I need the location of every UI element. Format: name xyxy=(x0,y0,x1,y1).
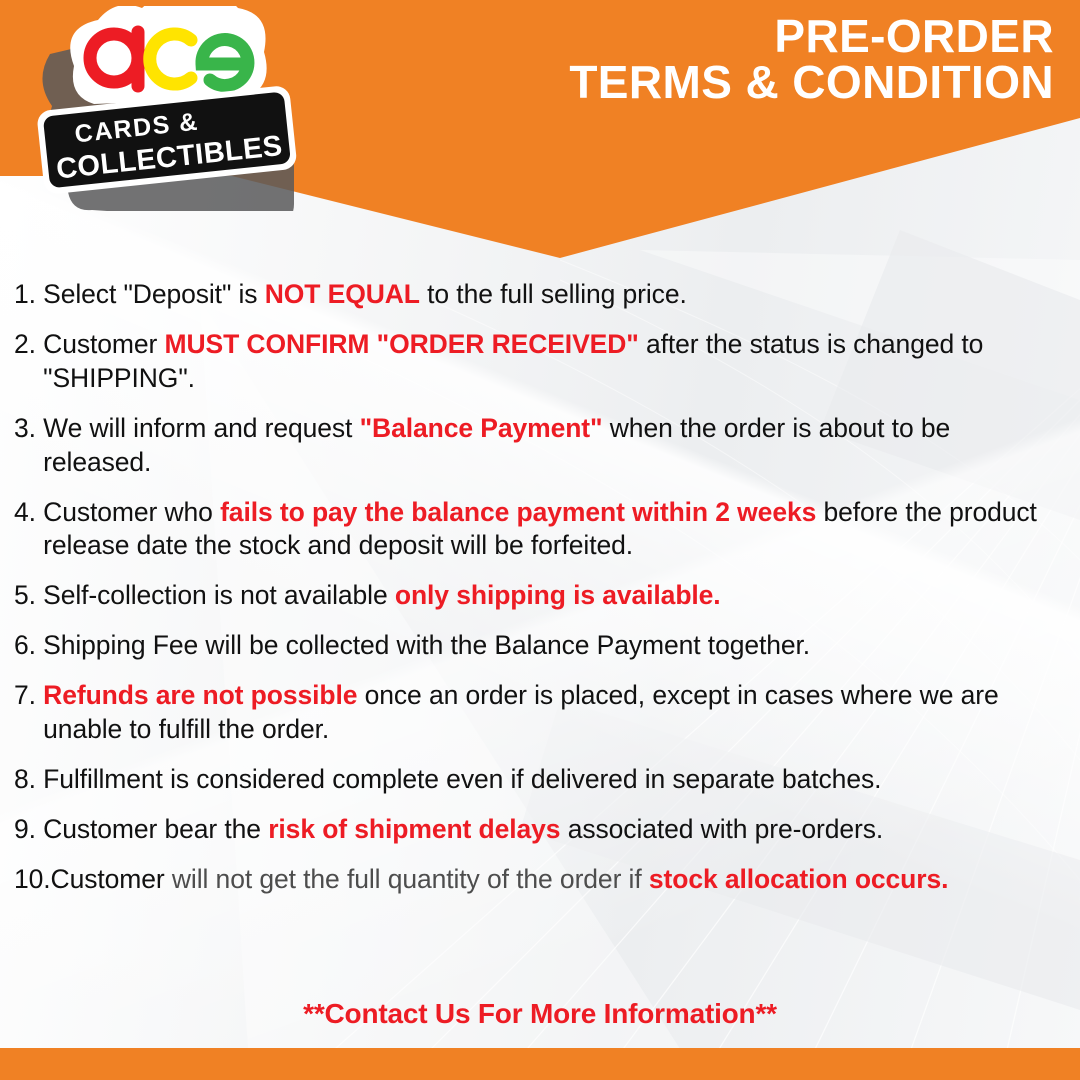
term-text: Customer will not get the full quantity … xyxy=(51,863,1062,897)
term-plain: Select "Deposit" is xyxy=(43,279,265,309)
term-plain: Shipping Fee will be collected with the … xyxy=(43,630,810,660)
term-item: 1. Select "Deposit" is NOT EQUAL to the … xyxy=(14,278,1062,312)
term-item: 5. Self-collection is not available only… xyxy=(14,579,1062,613)
title-line-one: PRE-ORDER xyxy=(569,14,1054,60)
term-text: Select "Deposit" is NOT EQUAL to the ful… xyxy=(43,278,1062,312)
footer-bar xyxy=(0,1048,1080,1080)
term-item: 3. We will inform and request "Balance P… xyxy=(14,412,1062,480)
term-highlight: fails to pay the balance payment within … xyxy=(220,497,816,527)
term-highlight: risk of shipment delays xyxy=(268,814,560,844)
term-highlight: Refunds are not possible xyxy=(43,680,357,710)
term-highlight: stock allocation occurs. xyxy=(649,864,949,894)
terms-list: 1. Select "Deposit" is NOT EQUAL to the … xyxy=(14,278,1062,913)
term-plain: associated with pre-orders. xyxy=(560,814,883,844)
term-text: Customer MUST CONFIRM "ORDER RECEIVED" a… xyxy=(43,328,1062,396)
term-text: We will inform and request "Balance Paym… xyxy=(43,412,1062,480)
term-text: Customer who fails to pay the balance pa… xyxy=(43,496,1062,564)
term-text: Customer bear the risk of shipment delay… xyxy=(43,813,1062,847)
term-plain: Fulfillment is considered complete even … xyxy=(43,764,881,794)
term-item: 8. Fulfillment is considered complete ev… xyxy=(14,763,1062,797)
term-item: 6. Shipping Fee will be collected with t… xyxy=(14,629,1062,663)
term-plain: Customer bear the xyxy=(43,814,268,844)
term-highlight: MUST CONFIRM "ORDER RECEIVED" xyxy=(165,329,639,359)
term-number: 9. xyxy=(14,813,43,847)
term-number: 2. xyxy=(14,328,43,362)
term-highlight: "Balance Payment" xyxy=(360,413,603,443)
term-number: 4. xyxy=(14,496,43,530)
term-number: 1. xyxy=(14,278,43,312)
term-number: 7. xyxy=(14,679,43,713)
term-item: 2. Customer MUST CONFIRM "ORDER RECEIVED… xyxy=(14,328,1062,396)
term-number: 6. xyxy=(14,629,43,663)
term-plain: We will inform and request xyxy=(43,413,359,443)
term-text: Self-collection is not available only sh… xyxy=(43,579,1062,613)
term-number: 3. xyxy=(14,412,43,446)
contact-note: **Contact Us For More Information** xyxy=(0,998,1080,1030)
brand-logo[interactable]: CARDS & COLLECTIBLES xyxy=(16,6,316,211)
term-number: 5. xyxy=(14,579,43,613)
term-item: 10. Customer will not get the full quant… xyxy=(14,863,1062,897)
term-plain: Customer xyxy=(43,329,164,359)
term-plain: Customer xyxy=(51,864,165,894)
term-item: 7. Refunds are not possible once an orde… xyxy=(14,679,1062,747)
term-highlight: only shipping is available. xyxy=(395,580,721,610)
page-title: PRE-ORDER TERMS & CONDITION xyxy=(569,14,1054,105)
term-text: Refunds are not possible once an order i… xyxy=(43,679,1062,747)
term-dim: will not get the full quantity of the or… xyxy=(165,864,649,894)
term-text: Fulfillment is considered complete even … xyxy=(43,763,1062,797)
term-plain: to the full selling price. xyxy=(420,279,687,309)
term-number: 8. xyxy=(14,763,43,797)
term-item: 9. Customer bear the risk of shipment de… xyxy=(14,813,1062,847)
term-highlight: NOT EQUAL xyxy=(265,279,420,309)
term-number: 10. xyxy=(14,863,51,897)
title-line-two: TERMS & CONDITION xyxy=(569,60,1054,106)
term-plain: Self-collection is not available xyxy=(43,580,395,610)
term-plain: Customer who xyxy=(43,497,220,527)
term-text: Shipping Fee will be collected with the … xyxy=(43,629,1062,663)
preorder-terms-poster: PRE-ORDER TERMS & CONDITION xyxy=(0,0,1080,1080)
term-item: 4. Customer who fails to pay the balance… xyxy=(14,496,1062,564)
